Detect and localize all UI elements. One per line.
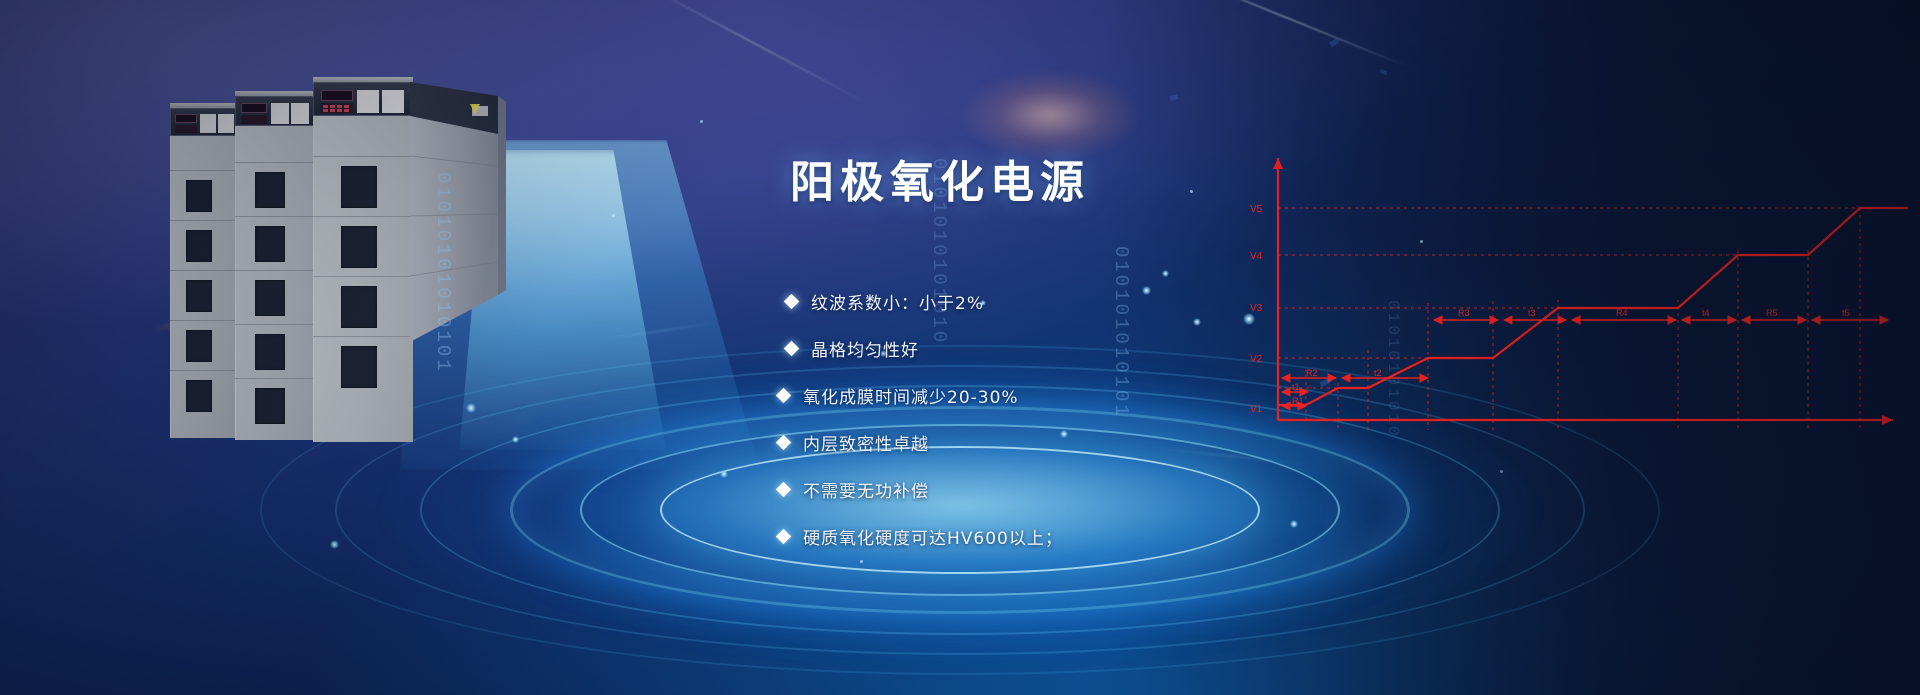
diamond-bullet-icon (776, 482, 792, 498)
list-item-label: 硬质氧化硬度可达HV600以上； (803, 524, 1063, 549)
diamond-bullet-icon (776, 529, 792, 545)
feature-list: 纹波系数小：小于2% 晶格均匀性好 氧化成膜时间减少20-30% 内层致密性卓越… (786, 278, 1346, 560)
list-item-label: 不需要无功补偿 (803, 477, 929, 502)
list-item: 硬质氧化硬度可达HV600以上； (778, 513, 1346, 560)
list-item: 氧化成膜时间减少20-30% (778, 372, 1346, 419)
list-item: 内层致密性卓越 (778, 419, 1346, 466)
list-item-label: 内层致密性卓越 (803, 430, 929, 455)
diamond-bullet-icon (784, 341, 800, 357)
list-item: 不需要无功补偿 (778, 466, 1346, 513)
list-item-label: 晶格均匀性好 (811, 336, 919, 361)
diamond-bullet-icon (776, 435, 792, 451)
diamond-bullet-icon (776, 388, 792, 404)
page-title: 阳极氧化电源 (790, 146, 1090, 210)
list-item: 晶格均匀性好 (786, 325, 1346, 372)
list-item-label: 氧化成膜时间减少20-30% (803, 383, 1019, 408)
banner-stage: 01010101010101 0101010101010 01010101010… (0, 0, 1920, 695)
list-item-label: 纹波系数小：小于2% (811, 289, 984, 314)
diamond-bullet-icon (784, 294, 800, 310)
list-item: 纹波系数小：小于2% (786, 278, 1346, 325)
